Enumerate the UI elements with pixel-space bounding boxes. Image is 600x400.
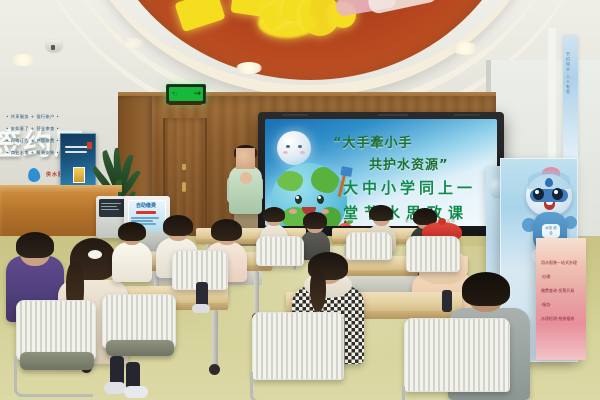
- chair-legs: [14, 356, 93, 397]
- chair-seat[interactable]: [106, 340, 174, 356]
- kiosk-screen-line: [101, 209, 119, 210]
- standee-bullet: • 商业水电 + 报装安装 •: [6, 148, 68, 157]
- slide-headline: “大手牽小手 共护水资源”: [333, 132, 495, 173]
- desk-leg: [254, 271, 259, 315]
- student-hair: [462, 272, 510, 306]
- moon-character-icon: [277, 131, 311, 165]
- ponytail: [310, 270, 326, 312]
- student-shoe: [104, 382, 126, 394]
- chair-backrest[interactable]: [346, 232, 392, 260]
- kiosk-screen-line: [101, 206, 117, 207]
- chair-backrest[interactable]: [256, 236, 304, 266]
- standee-bullet: • 安如意了 + 营业审查 •: [6, 124, 68, 133]
- chair-backrest[interactable]: [406, 236, 460, 272]
- chair-backrest[interactable]: [404, 318, 510, 392]
- water-drop-logo: [28, 168, 44, 184]
- secondary-kiosk-screen[interactable]: [99, 199, 127, 217]
- vertical-strip-sign-text: 节约用水 人人有责: [563, 36, 573, 110]
- student-shoe: [192, 304, 210, 313]
- chair-backrest[interactable]: [252, 312, 344, 380]
- ceiling-downlight: [452, 42, 478, 55]
- running-person-icon: ☜: [171, 91, 177, 98]
- desk-caster: [209, 364, 220, 375]
- standee-bullet: • 网络订购 + 充值缴费 •: [6, 136, 68, 145]
- standee-bullet: • 共享服务 + 银行账户 •: [6, 112, 68, 121]
- mascot-eye-icon: [552, 188, 563, 200]
- chair-backrest[interactable]: [16, 300, 96, 360]
- student-body: [112, 242, 152, 282]
- water-drop-icon: [27, 167, 41, 183]
- student-hair: [163, 215, 193, 236]
- ceiling-downlight: [236, 62, 262, 74]
- poster-red-mark: [87, 142, 92, 149]
- mascot-eye-icon: [533, 188, 544, 200]
- standee-bullet-list: • 共享服务 + 银行账户 • • 安如意了 + 营业审查 • • 网络订购 +…: [6, 112, 68, 160]
- chair-legs: [250, 372, 343, 400]
- student-hair: [263, 207, 285, 222]
- mascot-bib-text: 水务 综合: [544, 226, 558, 235]
- student-hair: [118, 222, 146, 241]
- ceiling-downlight: [10, 54, 36, 66]
- hair-tie: [88, 250, 102, 259]
- presenter-hands: [240, 172, 252, 184]
- rollup-line: ·服务·: [541, 300, 583, 309]
- student-leg: [442, 290, 452, 312]
- display-speaker: [378, 114, 408, 116]
- classroom-photo: 节约用水 人人有责 ☜ →: [0, 0, 600, 400]
- student-hair: [303, 212, 327, 229]
- display-speaker: [282, 114, 308, 116]
- slide-subtitle-line1: 大中小学同上一: [343, 177, 497, 198]
- rollup-line: 用水报装一站式办理: [541, 258, 583, 267]
- rollup-banner-text: 用水报装一站式办理 ·办理· 缴费查询·发票开具 ·服务· 水质检测·抢修报修: [541, 258, 583, 328]
- exit-arrow-icon: →: [193, 90, 201, 99]
- mascot-gem-icon: [545, 178, 553, 187]
- student-hair: [211, 219, 242, 241]
- smoke-detector-light: [51, 45, 55, 50]
- display-speaker: [454, 114, 480, 116]
- right-wall-panel: [548, 28, 556, 164]
- rollup-line: ·办理·: [541, 272, 583, 281]
- slide-headline-line2: 共护水资源”: [369, 154, 495, 173]
- rollup-line: 缴费查询·发票开具: [541, 286, 583, 295]
- kiosk-screen-line: [131, 217, 159, 219]
- exit-sign-face: ☜ →: [169, 87, 203, 101]
- student-hair: [16, 232, 54, 258]
- door-handle[interactable]: [182, 182, 186, 192]
- kiosk-notice-bar: [136, 211, 156, 214]
- presenter-head: [236, 148, 255, 169]
- poster-text-line: [65, 151, 87, 153]
- rollup-line: 水质检测·抢修报修: [541, 314, 583, 323]
- slide-headline-line1: “大手牽小手: [333, 132, 495, 151]
- student-hair: [369, 205, 393, 221]
- desk-leg: [212, 310, 218, 368]
- exit-sign-base: [168, 101, 202, 105]
- vertical-strip-sign: 节约用水 人人有责: [563, 36, 578, 158]
- ceiling-downlight: [122, 38, 144, 48]
- student-shoe: [124, 386, 148, 398]
- poster-badge-icon: [73, 167, 85, 183]
- chair-legs: [402, 386, 509, 400]
- door-lock-icon: [182, 164, 186, 170]
- kiosk-screen-line: [101, 203, 121, 204]
- kiosk-header-text: 自助缴费: [130, 202, 162, 210]
- beret-nub: [438, 218, 446, 225]
